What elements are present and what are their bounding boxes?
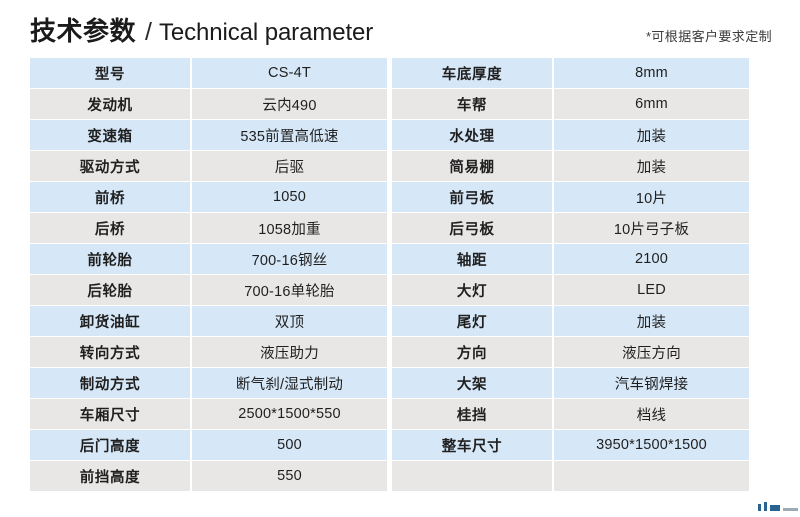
table-row: 水处理加装 <box>392 120 749 150</box>
table-row: 前挡高度550 <box>30 461 387 491</box>
spec-value-cell: 1058加重 <box>192 213 387 243</box>
watermark-bar-4 <box>783 508 798 511</box>
spec-label-cell: 卸货油缸 <box>30 306 190 336</box>
watermark-bar-1 <box>758 504 761 511</box>
spec-value-cell: 10片弓子板 <box>554 213 749 243</box>
spec-label-cell: 前挡高度 <box>30 461 190 491</box>
spec-value-cell <box>554 461 749 491</box>
table-row: 大架汽车钢焊接 <box>392 368 749 398</box>
table-row: 桂挡档线 <box>392 399 749 429</box>
spec-value-cell: 液压助力 <box>192 337 387 367</box>
right-spec-table: 车底厚度8mm车帮6mm水处理加装简易棚加装前弓板10片后弓板10片弓子板轴距2… <box>392 58 749 491</box>
table-row: 驱动方式后驱 <box>30 151 387 181</box>
page-header: 技术参数 / Technical parameter *可根据客户要求定制 <box>0 0 800 58</box>
spec-value-cell: 700-16钢丝 <box>192 244 387 274</box>
spec-label-cell: 制动方式 <box>30 368 190 398</box>
spec-value-cell: 535前置高低速 <box>192 120 387 150</box>
spec-label-cell: 轴距 <box>392 244 552 274</box>
table-row: 变速箱535前置高低速 <box>30 120 387 150</box>
page-title-separator: / <box>145 18 152 47</box>
spec-value-cell: 加装 <box>554 120 749 150</box>
spec-label-cell: 驱动方式 <box>30 151 190 181</box>
spec-value-cell: 汽车钢焊接 <box>554 368 749 398</box>
spec-label-cell <box>392 461 552 491</box>
page-title-english: Technical parameter <box>159 19 373 47</box>
spec-value-cell: LED <box>554 275 749 305</box>
table-row: 大灯LED <box>392 275 749 305</box>
spec-value-cell: 500 <box>192 430 387 460</box>
spec-label-cell: 发动机 <box>30 89 190 119</box>
table-row <box>392 461 749 491</box>
spec-value-cell: 10片 <box>554 182 749 212</box>
table-row: 前轮胎700-16钢丝 <box>30 244 387 274</box>
table-row: 方向液压方向 <box>392 337 749 367</box>
page-title: 技术参数 / Technical parameter <box>30 11 373 48</box>
table-row: 卸货油缸双顶 <box>30 306 387 336</box>
spec-label-cell: 整车尺寸 <box>392 430 552 460</box>
spec-label-cell: 变速箱 <box>30 120 190 150</box>
spec-label-cell: 后弓板 <box>392 213 552 243</box>
table-row: 车帮6mm <box>392 89 749 119</box>
table-row: 轴距2100 <box>392 244 749 274</box>
table-row: 尾灯加装 <box>392 306 749 336</box>
brand-watermark-logo <box>758 499 798 511</box>
spec-value-cell: 后驱 <box>192 151 387 181</box>
spec-label-cell: 型号 <box>30 58 190 88</box>
spec-label-cell: 桂挡 <box>392 399 552 429</box>
spec-value-cell: 700-16单轮胎 <box>192 275 387 305</box>
spec-value-cell: 6mm <box>554 89 749 119</box>
spec-value-cell: 550 <box>192 461 387 491</box>
table-row: 简易棚加装 <box>392 151 749 181</box>
spec-value-cell: 加装 <box>554 151 749 181</box>
spec-value-cell: 1050 <box>192 182 387 212</box>
spec-label-cell: 水处理 <box>392 120 552 150</box>
spec-value-cell: 2500*1500*550 <box>192 399 387 429</box>
spec-value-cell: 液压方向 <box>554 337 749 367</box>
spec-label-cell: 尾灯 <box>392 306 552 336</box>
spec-value-cell: 断气刹/湿式制动 <box>192 368 387 398</box>
spec-label-cell: 方向 <box>392 337 552 367</box>
table-row: 后门高度500 <box>30 430 387 460</box>
table-row: 转向方式液压助力 <box>30 337 387 367</box>
spec-label-cell: 车厢尺寸 <box>30 399 190 429</box>
spec-label-cell: 大灯 <box>392 275 552 305</box>
table-row: 发动机云内490 <box>30 89 387 119</box>
customization-note: *可根据客户要求定制 <box>646 26 772 45</box>
spec-label-cell: 前弓板 <box>392 182 552 212</box>
spec-label-cell: 车帮 <box>392 89 552 119</box>
spec-label-cell: 转向方式 <box>30 337 190 367</box>
table-row: 后桥1058加重 <box>30 213 387 243</box>
table-row: 后弓板10片弓子板 <box>392 213 749 243</box>
table-row: 前弓板10片 <box>392 182 749 212</box>
table-row: 型号CS-4T <box>30 58 387 88</box>
page-title-chinese: 技术参数 <box>30 11 136 48</box>
spec-label-cell: 后轮胎 <box>30 275 190 305</box>
spec-value-cell: 云内490 <box>192 89 387 119</box>
spec-label-cell: 后桥 <box>30 213 190 243</box>
spec-label-cell: 后门高度 <box>30 430 190 460</box>
spec-value-cell: 档线 <box>554 399 749 429</box>
left-spec-table: 型号CS-4T发动机云内490变速箱535前置高低速驱动方式后驱前桥1050后桥… <box>30 58 387 491</box>
table-row: 车底厚度8mm <box>392 58 749 88</box>
spec-label-cell: 大架 <box>392 368 552 398</box>
spec-label-cell: 前桥 <box>30 182 190 212</box>
watermark-bar-3 <box>770 505 780 511</box>
spec-label-cell: 前轮胎 <box>30 244 190 274</box>
spec-value-cell: CS-4T <box>192 58 387 88</box>
spec-value-cell: 3950*1500*1500 <box>554 430 749 460</box>
spec-value-cell: 8mm <box>554 58 749 88</box>
spec-label-cell: 简易棚 <box>392 151 552 181</box>
table-row: 制动方式断气刹/湿式制动 <box>30 368 387 398</box>
spec-label-cell: 车底厚度 <box>392 58 552 88</box>
table-row: 整车尺寸3950*1500*1500 <box>392 430 749 460</box>
table-row: 前桥1050 <box>30 182 387 212</box>
spec-value-cell: 加装 <box>554 306 749 336</box>
spec-value-cell: 双顶 <box>192 306 387 336</box>
spec-tables-container: 型号CS-4T发动机云内490变速箱535前置高低速驱动方式后驱前桥1050后桥… <box>30 58 772 491</box>
spec-value-cell: 2100 <box>554 244 749 274</box>
table-row: 后轮胎700-16单轮胎 <box>30 275 387 305</box>
watermark-bar-2 <box>764 502 767 511</box>
table-row: 车厢尺寸2500*1500*550 <box>30 399 387 429</box>
